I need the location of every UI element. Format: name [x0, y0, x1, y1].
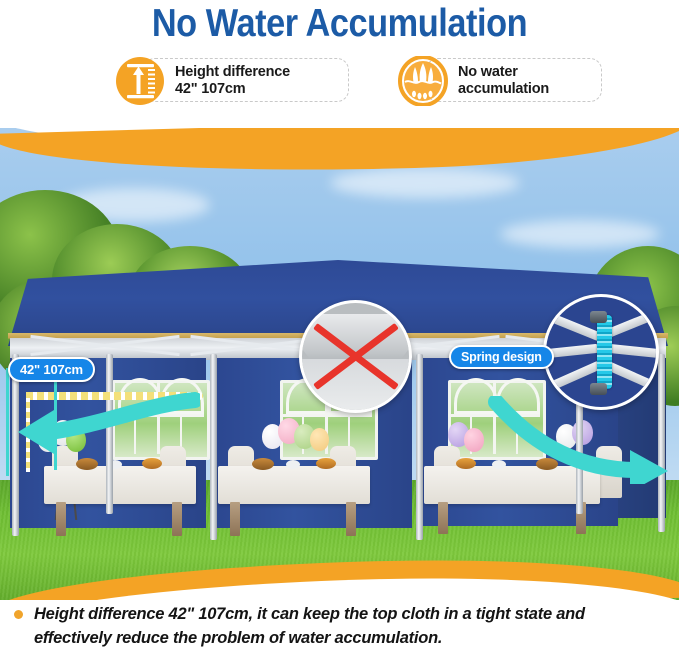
red-cross-icon [308, 309, 402, 403]
height-ruler-icon [115, 56, 169, 106]
spring-design-label: Spring design [449, 345, 554, 369]
table-leg [172, 502, 182, 536]
callout-sagging-canopy [299, 300, 412, 413]
page-title: No Water Accumulation [41, 2, 639, 46]
measure-tick-cyan [6, 368, 9, 476]
food-dish [252, 458, 274, 470]
frame-hub [590, 383, 607, 395]
product-photo: 42" 107cm Spring design [0, 128, 679, 600]
food-dish [316, 458, 336, 469]
table-leg [230, 502, 240, 536]
frame-hub [590, 311, 607, 323]
window-mullion [280, 414, 372, 417]
height-measure-label: 42" 107cm [8, 357, 95, 382]
table-leg [438, 502, 448, 534]
cloud [500, 220, 660, 248]
table-leg [56, 502, 66, 536]
cloud [330, 168, 520, 198]
badge-no-water-line2: accumulation [458, 81, 549, 98]
canopy-leg-pole [210, 354, 217, 540]
badge-no-water-label: No water accumulation [452, 64, 563, 98]
badge-height-line2: 42" 107cm [175, 81, 290, 98]
badge-height-line1: Height difference [175, 64, 290, 81]
caption-text: Height difference 42" 107cm, it can keep… [34, 605, 585, 647]
table-leg [346, 502, 356, 536]
balloon [464, 428, 484, 452]
frame-bar [605, 361, 659, 394]
callout-spring-design [543, 294, 659, 410]
canopy-leg-pole [416, 354, 423, 540]
food-dish [456, 458, 476, 469]
banquet-table [44, 466, 196, 504]
badge-height-label: Height difference 42" 107cm [169, 64, 304, 98]
banquet-table [218, 466, 370, 504]
frame-bar [608, 344, 659, 359]
badge-no-water: No water accumulation [398, 56, 563, 106]
bullet-dot-icon [14, 610, 23, 619]
tableware [286, 460, 300, 469]
badge-no-water-line1: No water [458, 64, 549, 81]
coil-spring [597, 315, 612, 390]
badge-height-difference: Height difference 42" 107cm [115, 56, 304, 106]
no-water-accumulation-icon [398, 56, 452, 106]
product-feature-image: No Water Accumulation [0, 0, 679, 648]
arrow-right-cyan [488, 396, 678, 484]
feature-badge-row: Height difference 42" 107cm [0, 56, 679, 112]
arrow-left-cyan [10, 390, 200, 470]
balloon [310, 428, 329, 451]
caption-block: Height difference 42" 107cm, it can keep… [34, 602, 654, 650]
